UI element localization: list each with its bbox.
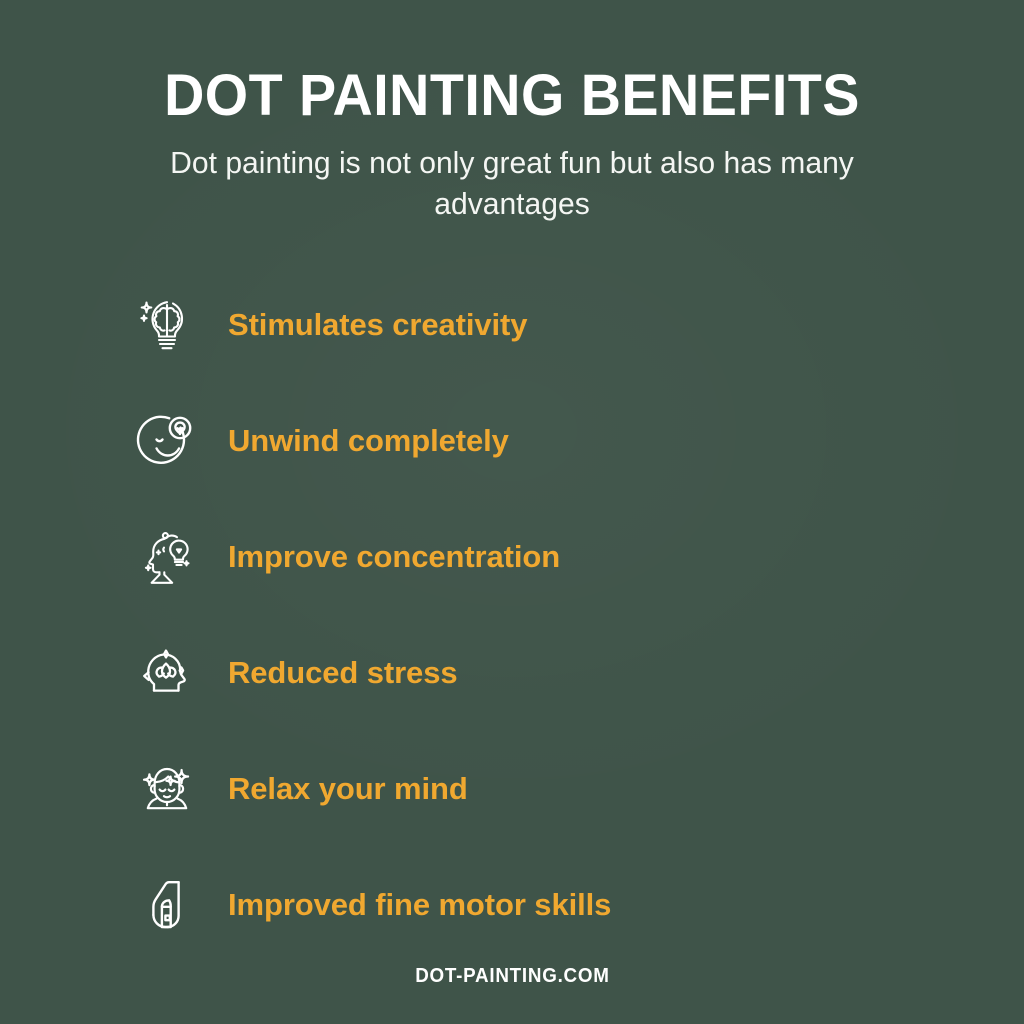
page-title: DOT PAINTING BENEFITS (20, 66, 1003, 125)
list-item: Stimulates creativity (130, 267, 1024, 383)
brain-lightbulb-icon (130, 288, 204, 362)
footer: DOT-PAINTING.COM (0, 965, 1024, 988)
list-item: Improved fine motor skills (130, 847, 1024, 963)
benefit-label: Improved fine motor skills (228, 887, 611, 923)
head-lightbulb-idea-icon (130, 520, 204, 594)
list-item: Reduced stress (130, 615, 1024, 731)
infographic-poster: DOT PAINTING BENEFITS Dot painting is no… (0, 0, 1024, 1024)
relaxed-face-sparkles-icon (130, 752, 204, 826)
page-subtitle: Dot painting is not only great fun but a… (153, 143, 871, 225)
list-item: Unwind completely (130, 383, 1024, 499)
benefit-label: Relax your mind (228, 771, 468, 807)
benefit-label: Unwind completely (228, 423, 509, 459)
head-lotus-icon (130, 636, 204, 710)
list-item: Improve concentration (130, 499, 1024, 615)
footer-website-url: DOT-PAINTING.COM (415, 965, 609, 988)
header: DOT PAINTING BENEFITS Dot painting is no… (0, 0, 1024, 225)
smiling-face-flower-icon (130, 404, 204, 478)
list-item: Relax your mind (130, 731, 1024, 847)
hand-holding-tool-icon (130, 868, 204, 942)
benefit-label: Improve concentration (228, 539, 560, 575)
benefit-label: Stimulates creativity (228, 307, 527, 343)
benefits-list: Stimulates creativity Unwind completely (0, 267, 1024, 963)
benefit-label: Reduced stress (228, 655, 457, 691)
